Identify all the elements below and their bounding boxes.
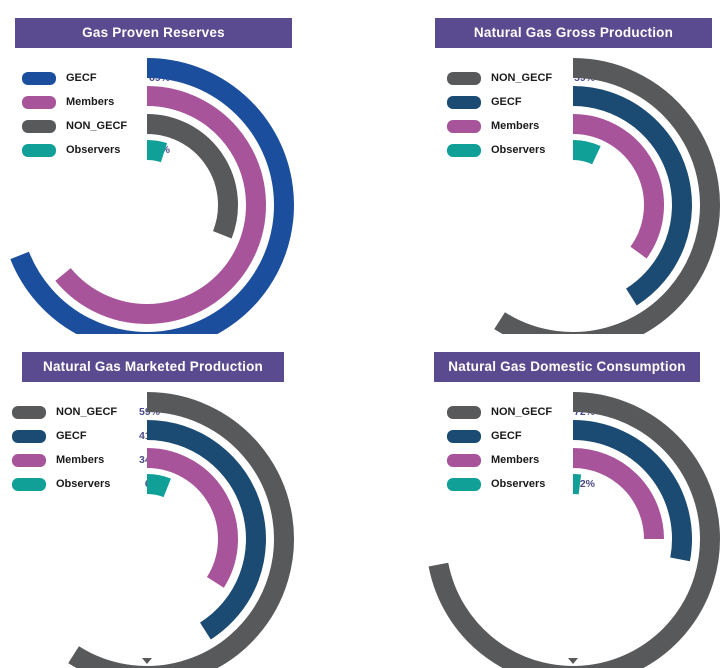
legend-swatch-icon: [447, 430, 481, 443]
legend-item-gecf[interactable]: GECF41%: [447, 90, 595, 114]
legend-3: NON_GECF72%GECF28%Members25%Observers2%: [447, 400, 595, 496]
legend-swatch-icon: [22, 120, 56, 133]
legend-2: NON_GECF59%GECF41%Members34%Observers6%: [12, 400, 160, 496]
radial-bar-observers[interactable]: [573, 150, 596, 155]
legend-label: Members: [66, 96, 138, 108]
legend-swatch-icon: [12, 478, 46, 491]
legend-swatch-icon: [12, 430, 46, 443]
legend-label: GECF: [491, 96, 563, 108]
dashboard-grid: Gas Proven Reserves GECF69%Members64%NON…: [0, 0, 726, 668]
panel-title-bar-1: Natural Gas Gross Production: [435, 18, 712, 48]
legend-swatch-icon: [447, 72, 481, 85]
legend-label: GECF: [56, 430, 128, 442]
legend-label: Observers: [56, 478, 128, 490]
arc-end-marker-icon: [142, 658, 152, 664]
legend-item-members[interactable]: Members35%: [447, 114, 595, 138]
panel-title-bar-2: Natural Gas Marketed Production: [22, 352, 284, 382]
legend-label: NON_GECF: [56, 406, 128, 418]
legend-item-observers[interactable]: Observers2%: [447, 472, 595, 496]
legend-label: NON_GECF: [491, 72, 563, 84]
arc-end-marker-icon: [568, 658, 578, 664]
radial-chart-1: [363, 0, 726, 334]
legend-item-members[interactable]: Members25%: [447, 448, 595, 472]
legend-swatch-icon: [447, 120, 481, 133]
legend-item-non_gecf[interactable]: NON_GECF59%: [447, 66, 595, 90]
legend-item-non_gecf[interactable]: NON_GECF59%: [12, 400, 160, 424]
legend-label: Observers: [491, 144, 563, 156]
legend-swatch-icon: [447, 406, 481, 419]
panel-title-bar-0: Gas Proven Reserves: [15, 18, 292, 48]
radial-bar-observers[interactable]: [147, 150, 164, 153]
panel-natural-gas-marketed-production: Natural Gas Marketed Production NON_GECF…: [0, 334, 363, 668]
legend-swatch-icon: [447, 144, 481, 157]
legend-label: Members: [491, 454, 563, 466]
legend-label: Members: [491, 120, 563, 132]
legend-swatch-icon: [447, 96, 481, 109]
legend-swatch-icon: [447, 454, 481, 467]
radial-chart-0: [0, 0, 363, 334]
panel-natural-gas-domestic-consumption: Natural Gas Domestic Consumption NON_GEC…: [363, 334, 726, 668]
legend-swatch-icon: [22, 96, 56, 109]
legend-swatch-icon: [22, 144, 56, 157]
legend-item-members[interactable]: Members34%: [12, 448, 160, 472]
radial-bar-observers[interactable]: [147, 484, 167, 488]
legend-label: NON_GECF: [491, 406, 563, 418]
legend-item-gecf[interactable]: GECF28%: [447, 424, 595, 448]
legend-label: Observers: [491, 478, 563, 490]
legend-label: Members: [56, 454, 128, 466]
radial-chart-2: [0, 334, 363, 668]
legend-item-gecf[interactable]: GECF41%: [12, 424, 160, 448]
legend-1: NON_GECF59%GECF41%Members35%Observers7%: [447, 66, 595, 162]
legend-label: NON_GECF: [66, 120, 138, 132]
panel-gas-proven-reserves: Gas Proven Reserves GECF69%Members64%NON…: [0, 0, 363, 334]
legend-swatch-icon: [447, 478, 481, 491]
legend-label: GECF: [66, 72, 138, 84]
legend-swatch-icon: [22, 72, 56, 85]
legend-item-non_gecf[interactable]: NON_GECF72%: [447, 400, 595, 424]
legend-item-observers[interactable]: Observers6%: [12, 472, 160, 496]
legend-label: GECF: [491, 430, 563, 442]
legend-item-observers[interactable]: Observers7%: [447, 138, 595, 162]
legend-swatch-icon: [12, 454, 46, 467]
legend-swatch-icon: [12, 406, 46, 419]
legend-label: Observers: [66, 144, 138, 156]
radial-chart-3: [363, 334, 726, 668]
panel-title-bar-3: Natural Gas Domestic Consumption: [434, 352, 700, 382]
panel-natural-gas-gross-production: Natural Gas Gross Production NON_GECF59%…: [363, 0, 726, 334]
